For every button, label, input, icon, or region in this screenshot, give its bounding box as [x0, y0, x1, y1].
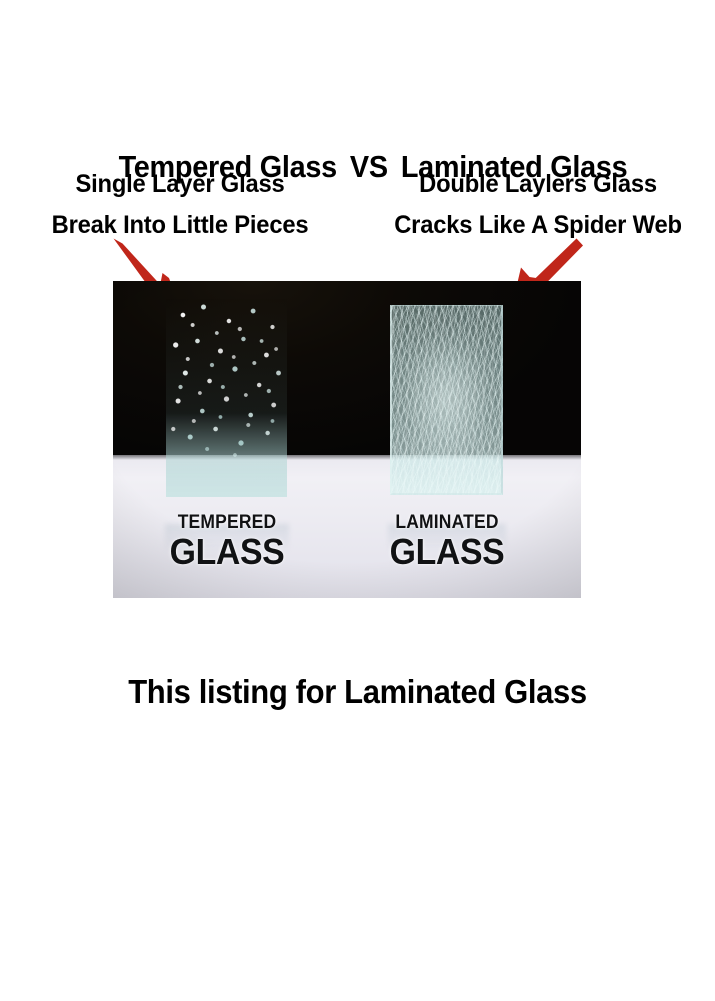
- photo-caption-laminated-big: GLASS: [376, 534, 519, 570]
- subtitle-tempered-glass: Single Layer Glass Break Into Little Pie…: [15, 164, 346, 246]
- comparison-photo: TEMPERED GLASS LAMINATED GLASS: [113, 281, 581, 598]
- subtitle-laminated-line-1: Double Laylers Glass: [371, 164, 705, 205]
- photo-caption-tempered: TEMPERED GLASS: [151, 513, 303, 570]
- subtitle-tempered-line-1: Single Layer Glass: [15, 164, 346, 205]
- subtitle-tempered-line-2: Break Into Little Pieces: [15, 205, 346, 246]
- photo-caption-tempered-small: TEMPERED: [157, 513, 297, 532]
- photo-caption-tempered-big: GLASS: [156, 534, 299, 570]
- photo-caption-laminated: LAMINATED GLASS: [371, 513, 523, 570]
- page-canvas: Tempered GlassVSLaminated Glass Single L…: [0, 0, 715, 1001]
- subtitle-laminated-glass: Double Laylers Glass Cracks Like A Spide…: [371, 164, 705, 246]
- subtitle-laminated-line-2: Cracks Like A Spider Web: [371, 205, 705, 246]
- listing-note: This listing for Laminated Glass: [21, 668, 693, 716]
- photo-caption-laminated-small: LAMINATED: [377, 513, 517, 532]
